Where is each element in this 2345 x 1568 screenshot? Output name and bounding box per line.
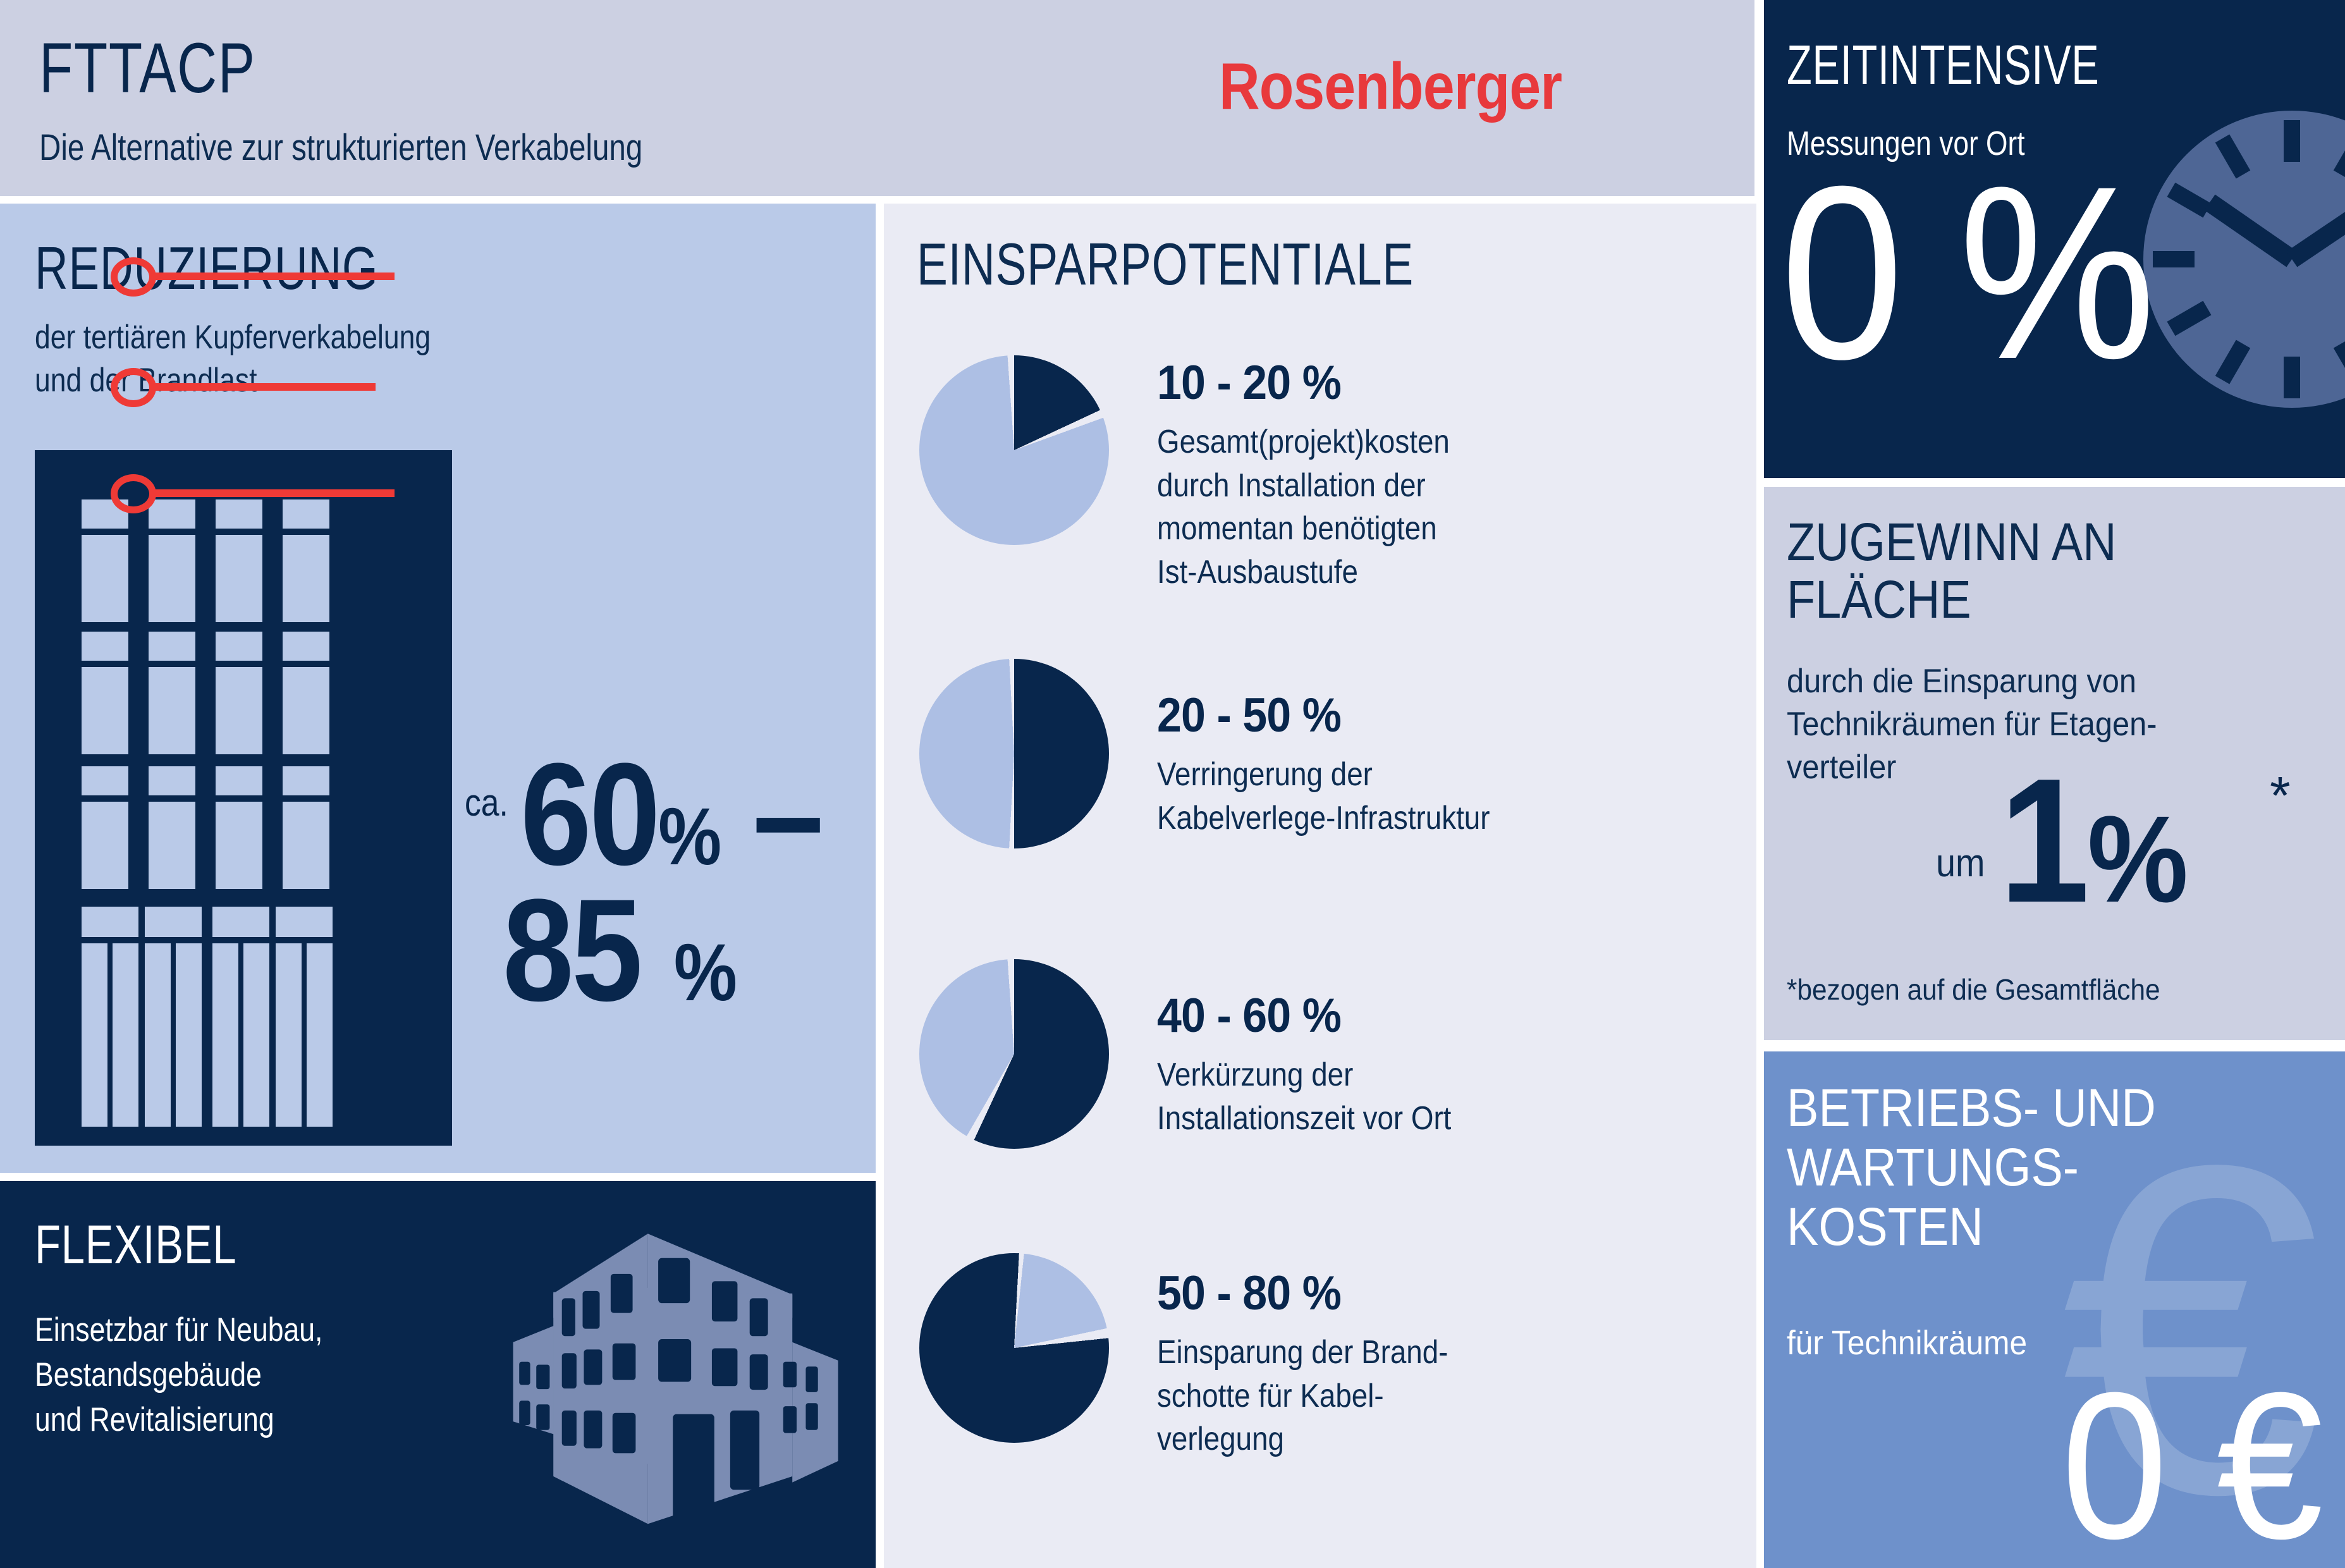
- pie-chart-3: [919, 959, 1109, 1149]
- flexibel-title: FLEXIBEL: [35, 1214, 236, 1277]
- zugewinn-title: ZUGEWINN AN FLÄCHE: [1787, 513, 2117, 628]
- zugewinn-asterisk: *: [2270, 765, 2291, 826]
- flexibel-subtitle-line1: Einsetzbar für Neubau,: [35, 1308, 322, 1352]
- saving-headline: 10 - 20 %: [1157, 355, 1463, 410]
- zugewinn-title-line1: ZUGEWINN AN: [1787, 513, 2117, 571]
- betriebskosten-title: BETRIEBS- UND WARTUNGS- KOSTEN: [1787, 1078, 2156, 1256]
- leader-line-3: [154, 489, 395, 497]
- betriebskosten-subtitle: für Technikräume: [1787, 1323, 2027, 1363]
- pie-chart-2: [919, 659, 1109, 848]
- value-line-2: 85 %: [503, 866, 735, 1034]
- einsparpotentiale-panel: EINSPARPOTENTIALE 10 - 20 % Gesamt(proje…: [884, 204, 1756, 1568]
- reduzierung-panel: REDUZIERUNG der tertiären Kupferverkabel…: [0, 204, 876, 1173]
- reduzierung-subtitle-line1: der tertiären Kupferverkabelung: [35, 316, 431, 359]
- clock-icon: [2134, 101, 2345, 430]
- zugewinn-prefix: um: [1936, 841, 1985, 886]
- saving-headline: 20 - 50 %: [1157, 688, 1505, 743]
- reduzierung-subtitle-line2: und der Brandlast: [35, 359, 431, 402]
- page-subtitle: Die Alternative zur strukturierten Verka…: [39, 126, 642, 169]
- saving-body: Verkürzung der Installationszeit vor Ort: [1157, 1053, 1451, 1140]
- betriebskosten-title-line3: KOSTEN: [1787, 1197, 2156, 1256]
- office-building-icon: [499, 1220, 854, 1562]
- betriebskosten-title-line2: WARTUNGS-: [1787, 1137, 2156, 1197]
- zeitintensive-panel: ZEITINTENSIVE Messungen vor Ort 0 %: [1764, 0, 2345, 478]
- betriebskosten-title-line1: BETRIEBS- UND: [1787, 1078, 2156, 1137]
- flexibel-subtitle-line3: und Revitalisierung: [35, 1397, 322, 1442]
- pie-chart-4: [919, 1253, 1109, 1443]
- pie-chart-1: [919, 355, 1109, 545]
- betriebskosten-panel: € BETRIEBS- UND WARTUNGS- KOSTEN für Tec…: [1764, 1051, 2345, 1568]
- saving-headline: 50 - 80 %: [1157, 1266, 1461, 1321]
- einsparpotentiale-title: EINSPARPOTENTIALE: [917, 230, 1414, 298]
- floor-marker-1-icon: [111, 257, 156, 297]
- saving-body: Einsparung der Brand- schotte für Kabel-…: [1157, 1331, 1448, 1461]
- approx-label: ca.: [465, 781, 508, 824]
- betriebskosten-value: 0 €: [2061, 1361, 2321, 1568]
- leader-line-2: [154, 383, 376, 391]
- saving-headline: 40 - 60 %: [1157, 988, 1465, 1043]
- floor-marker-3-icon: [111, 474, 156, 513]
- leader-line-1: [154, 273, 395, 280]
- rosenberger-logo: Rosenberger: [1219, 49, 1562, 125]
- zugewinn-footnote: *bezogen auf die Gesamtfläche: [1787, 972, 2160, 1007]
- page-title: FTTACP: [39, 33, 256, 104]
- zeitintensive-value: 0 %: [1780, 149, 2153, 396]
- building-diagram-icon: [35, 450, 452, 1146]
- zugewinn-value: 1%: [1999, 752, 2186, 929]
- zugewinn-title-line2: FLÄCHE: [1787, 571, 2117, 628]
- zeitintensive-title: ZEITINTENSIVE: [1787, 33, 2099, 97]
- saving-body: Gesamt(projekt)kosten durch Installation…: [1157, 420, 1450, 594]
- floor-marker-2-icon: [111, 368, 156, 407]
- flexibel-subtitle: Einsetzbar für Neubau, Bestandsgebäude u…: [35, 1308, 322, 1442]
- infographic-root: FTTACP Die Alternative zur strukturierte…: [0, 0, 2345, 1568]
- zugewinn-panel: ZUGEWINN AN FLÄCHE durch die Einsparung …: [1764, 487, 2345, 1040]
- flexibel-subtitle-line2: Bestandsgebäude: [35, 1352, 322, 1397]
- reduzierung-title: REDUZIERUNG: [35, 234, 378, 303]
- saving-body: Verringerung der Kabelverlege-Infrastruk…: [1157, 753, 1490, 840]
